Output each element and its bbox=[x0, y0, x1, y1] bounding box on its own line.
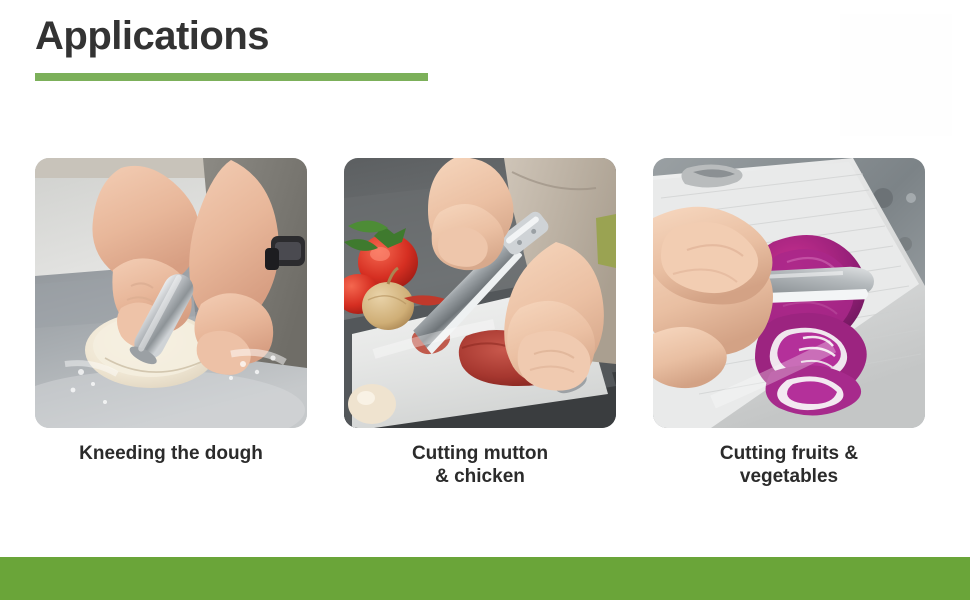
watermark-block bbox=[840, 14, 952, 136]
photo-kneading-dough bbox=[35, 158, 307, 428]
photo-cutting-fruits-vegetables-graphic bbox=[653, 158, 925, 428]
photo-cutting-mutton-chicken-graphic bbox=[344, 158, 616, 428]
title-underline-rule bbox=[35, 73, 428, 81]
footer-accent-bar bbox=[0, 557, 970, 600]
application-card-meat: Cutting mutton & chicken bbox=[344, 158, 616, 488]
photo-cutting-fruits-vegetables bbox=[653, 158, 925, 428]
page-title: Applications bbox=[35, 14, 635, 58]
photo-kneading-dough-graphic bbox=[35, 158, 307, 428]
photo-cutting-mutton-chicken bbox=[344, 158, 616, 428]
application-card-kneading: Kneeding the dough bbox=[35, 158, 307, 488]
card-caption: Cutting mutton & chicken bbox=[344, 442, 616, 488]
card-caption: Cutting fruits & vegetables bbox=[653, 442, 925, 488]
applications-card-row: Kneeding the dough bbox=[35, 158, 925, 488]
applications-slide: Applications bbox=[0, 0, 970, 600]
card-caption: Kneeding the dough bbox=[35, 442, 307, 465]
header: Applications bbox=[35, 14, 635, 58]
application-card-vegetables: Cutting fruits & vegetables bbox=[653, 158, 925, 488]
